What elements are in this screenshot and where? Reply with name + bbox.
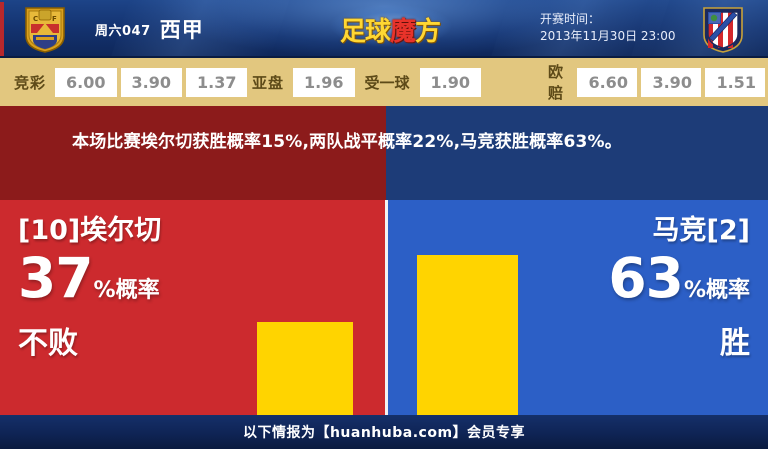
atletico-madrid-crest bbox=[700, 6, 746, 54]
odds-label-jingcai: 竞彩 bbox=[14, 72, 46, 93]
odds-european-home[interactable]: 6.60 bbox=[577, 68, 637, 97]
logo-part-hot: 魔 bbox=[390, 17, 415, 47]
odds-asian-home[interactable]: 1.96 bbox=[293, 68, 354, 97]
home-percent-suffix: %概率 bbox=[94, 278, 160, 303]
away-team-block: 马竞[2] 63%概率 胜 bbox=[500, 214, 750, 364]
odds-group-jingcai: 竞彩 6.00 3.90 1.37 bbox=[14, 58, 251, 106]
match-number: 周六047 bbox=[95, 24, 151, 39]
home-team-block: [10]埃尔切 37%概率 不败 bbox=[18, 214, 268, 364]
elche-cf-crest: C F bbox=[22, 6, 68, 54]
away-percent-suffix: %概率 bbox=[684, 278, 750, 303]
bar-home-probability bbox=[257, 322, 353, 415]
odds-jingcai-home[interactable]: 6.00 bbox=[55, 68, 116, 97]
footer-text: 以下情报为【huanhuba.com】会员专享 bbox=[243, 422, 525, 442]
header-bar: C F 周六047 西甲 足球魔方 开赛时间： 2013年11月30日 23:0… bbox=[0, 0, 768, 58]
odds-european-draw[interactable]: 3.90 bbox=[641, 68, 701, 97]
center-divider bbox=[385, 200, 388, 415]
logo-text: 足球魔方 bbox=[330, 11, 450, 48]
home-team-name: [10]埃尔切 bbox=[18, 214, 268, 248]
odds-asian-away[interactable]: 1.90 bbox=[420, 68, 481, 97]
match-probability-infographic: C F 周六047 西甲 足球魔方 开赛时间： 2013年11月30日 23:0… bbox=[0, 0, 768, 449]
home-percent-value: 37 bbox=[18, 246, 93, 310]
odds-label-european: 欧赔 bbox=[548, 61, 568, 103]
logo-part-tail: 方 bbox=[415, 17, 440, 47]
league-name: 西甲 bbox=[160, 18, 204, 42]
kickoff-label: 开赛时间： bbox=[540, 11, 675, 28]
away-percent-value: 63 bbox=[608, 246, 683, 310]
away-verdict: 胜 bbox=[500, 324, 750, 364]
site-logo[interactable]: 足球魔方 bbox=[330, 8, 450, 50]
odds-asian-handicap: 受一球 bbox=[359, 67, 416, 98]
svg-text:F: F bbox=[52, 15, 57, 23]
footer-bar: 以下情报为【huanhuba.com】会员专享 bbox=[0, 415, 768, 449]
kickoff-value: 2013年11月30日 23:00 bbox=[540, 28, 675, 45]
league-block: 周六047 西甲 bbox=[95, 14, 204, 44]
odds-group-european: 欧赔 6.60 3.90 1.51 bbox=[548, 58, 768, 106]
banner-text: 本场比赛埃尔切获胜概率15%,两队战平概率22%,马竞获胜概率63%。 bbox=[72, 128, 697, 157]
odds-european-away[interactable]: 1.51 bbox=[705, 68, 765, 97]
logo-part-main: 足球 bbox=[340, 17, 390, 47]
odds-label-asian: 亚盘 bbox=[252, 72, 284, 93]
away-percent-row: 63%概率 bbox=[500, 250, 750, 320]
home-verdict: 不败 bbox=[18, 324, 268, 364]
svg-text:C: C bbox=[33, 15, 38, 23]
odds-group-asian: 亚盘 1.96 受一球 1.90 bbox=[252, 58, 485, 106]
odds-jingcai-draw[interactable]: 3.90 bbox=[121, 68, 182, 97]
probability-chart: [10]埃尔切 37%概率 不败 马竞[2] 63%概率 胜 bbox=[0, 200, 768, 415]
odds-bar: 竞彩 6.00 3.90 1.37 亚盘 1.96 受一球 1.90 欧赔 6.… bbox=[0, 58, 768, 106]
odds-jingcai-away[interactable]: 1.37 bbox=[186, 68, 247, 97]
header-accent-stub bbox=[0, 2, 4, 56]
away-team-name: 马竞[2] bbox=[500, 214, 750, 248]
kickoff-time-block: 开赛时间： 2013年11月30日 23:00 bbox=[540, 11, 675, 45]
summary-banner: 本场比赛埃尔切获胜概率15%,两队战平概率22%,马竞获胜概率63%。 bbox=[0, 106, 768, 200]
home-percent-row: 37%概率 bbox=[18, 250, 268, 320]
